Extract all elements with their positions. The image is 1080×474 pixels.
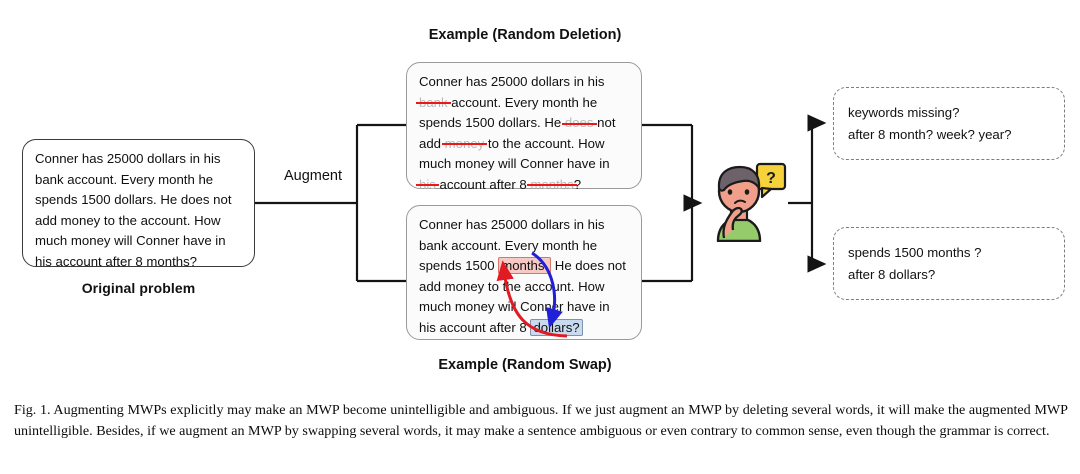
swapped-word-months: months. <box>498 257 551 274</box>
deleted-word: does <box>565 115 594 130</box>
text-span: Conner has 25000 dollars in his <box>419 74 604 89</box>
random-swap-example-box: Conner has 25000 dollars in his bank acc… <box>406 205 642 340</box>
deleted-word: months <box>530 177 573 192</box>
output-box-ambiguous-swap: spends 1500 months ? after 8 dollars? <box>833 227 1065 300</box>
output-line-1: keywords missing? <box>848 102 1050 124</box>
deleted-word: bank <box>419 95 448 110</box>
original-problem-box: Conner has 25000 dollars in his bank acc… <box>22 139 255 267</box>
random-swap-heading: Example (Random Swap) <box>360 357 690 373</box>
output-line-2: after 8 dollars? <box>848 264 1050 286</box>
deleted-word: his <box>419 177 436 192</box>
deleted-word: money <box>445 136 485 151</box>
original-problem-label: Original problem <box>22 280 255 296</box>
output-line-2: after 8 month? week? year? <box>848 124 1050 146</box>
figure-caption: Fig. 1. Augmenting MWPs explicitly may m… <box>14 400 1068 442</box>
svg-text:?: ? <box>766 170 776 187</box>
thinking-person-icon: ? <box>702 160 788 242</box>
caption-text: Augmenting MWPs explicitly may make an M… <box>14 402 1068 439</box>
random-deletion-example-box: Conner has 25000 dollars in his bank acc… <box>406 62 642 189</box>
question-speech-bubble: ? <box>757 164 785 197</box>
output-box-keywords-missing: keywords missing? after 8 month? week? y… <box>833 87 1065 160</box>
output-line-1: spends 1500 months ? <box>848 242 1050 264</box>
random-deletion-heading: Example (Random Deletion) <box>360 27 690 43</box>
figure-number: Fig. 1. <box>14 402 51 418</box>
augment-label: Augment <box>270 168 356 184</box>
figure-diagram: Conner has 25000 dollars in his bank acc… <box>0 0 1080 390</box>
swapped-word-dollars: dollars? <box>530 319 582 336</box>
text-span: account after 8 <box>436 177 531 192</box>
